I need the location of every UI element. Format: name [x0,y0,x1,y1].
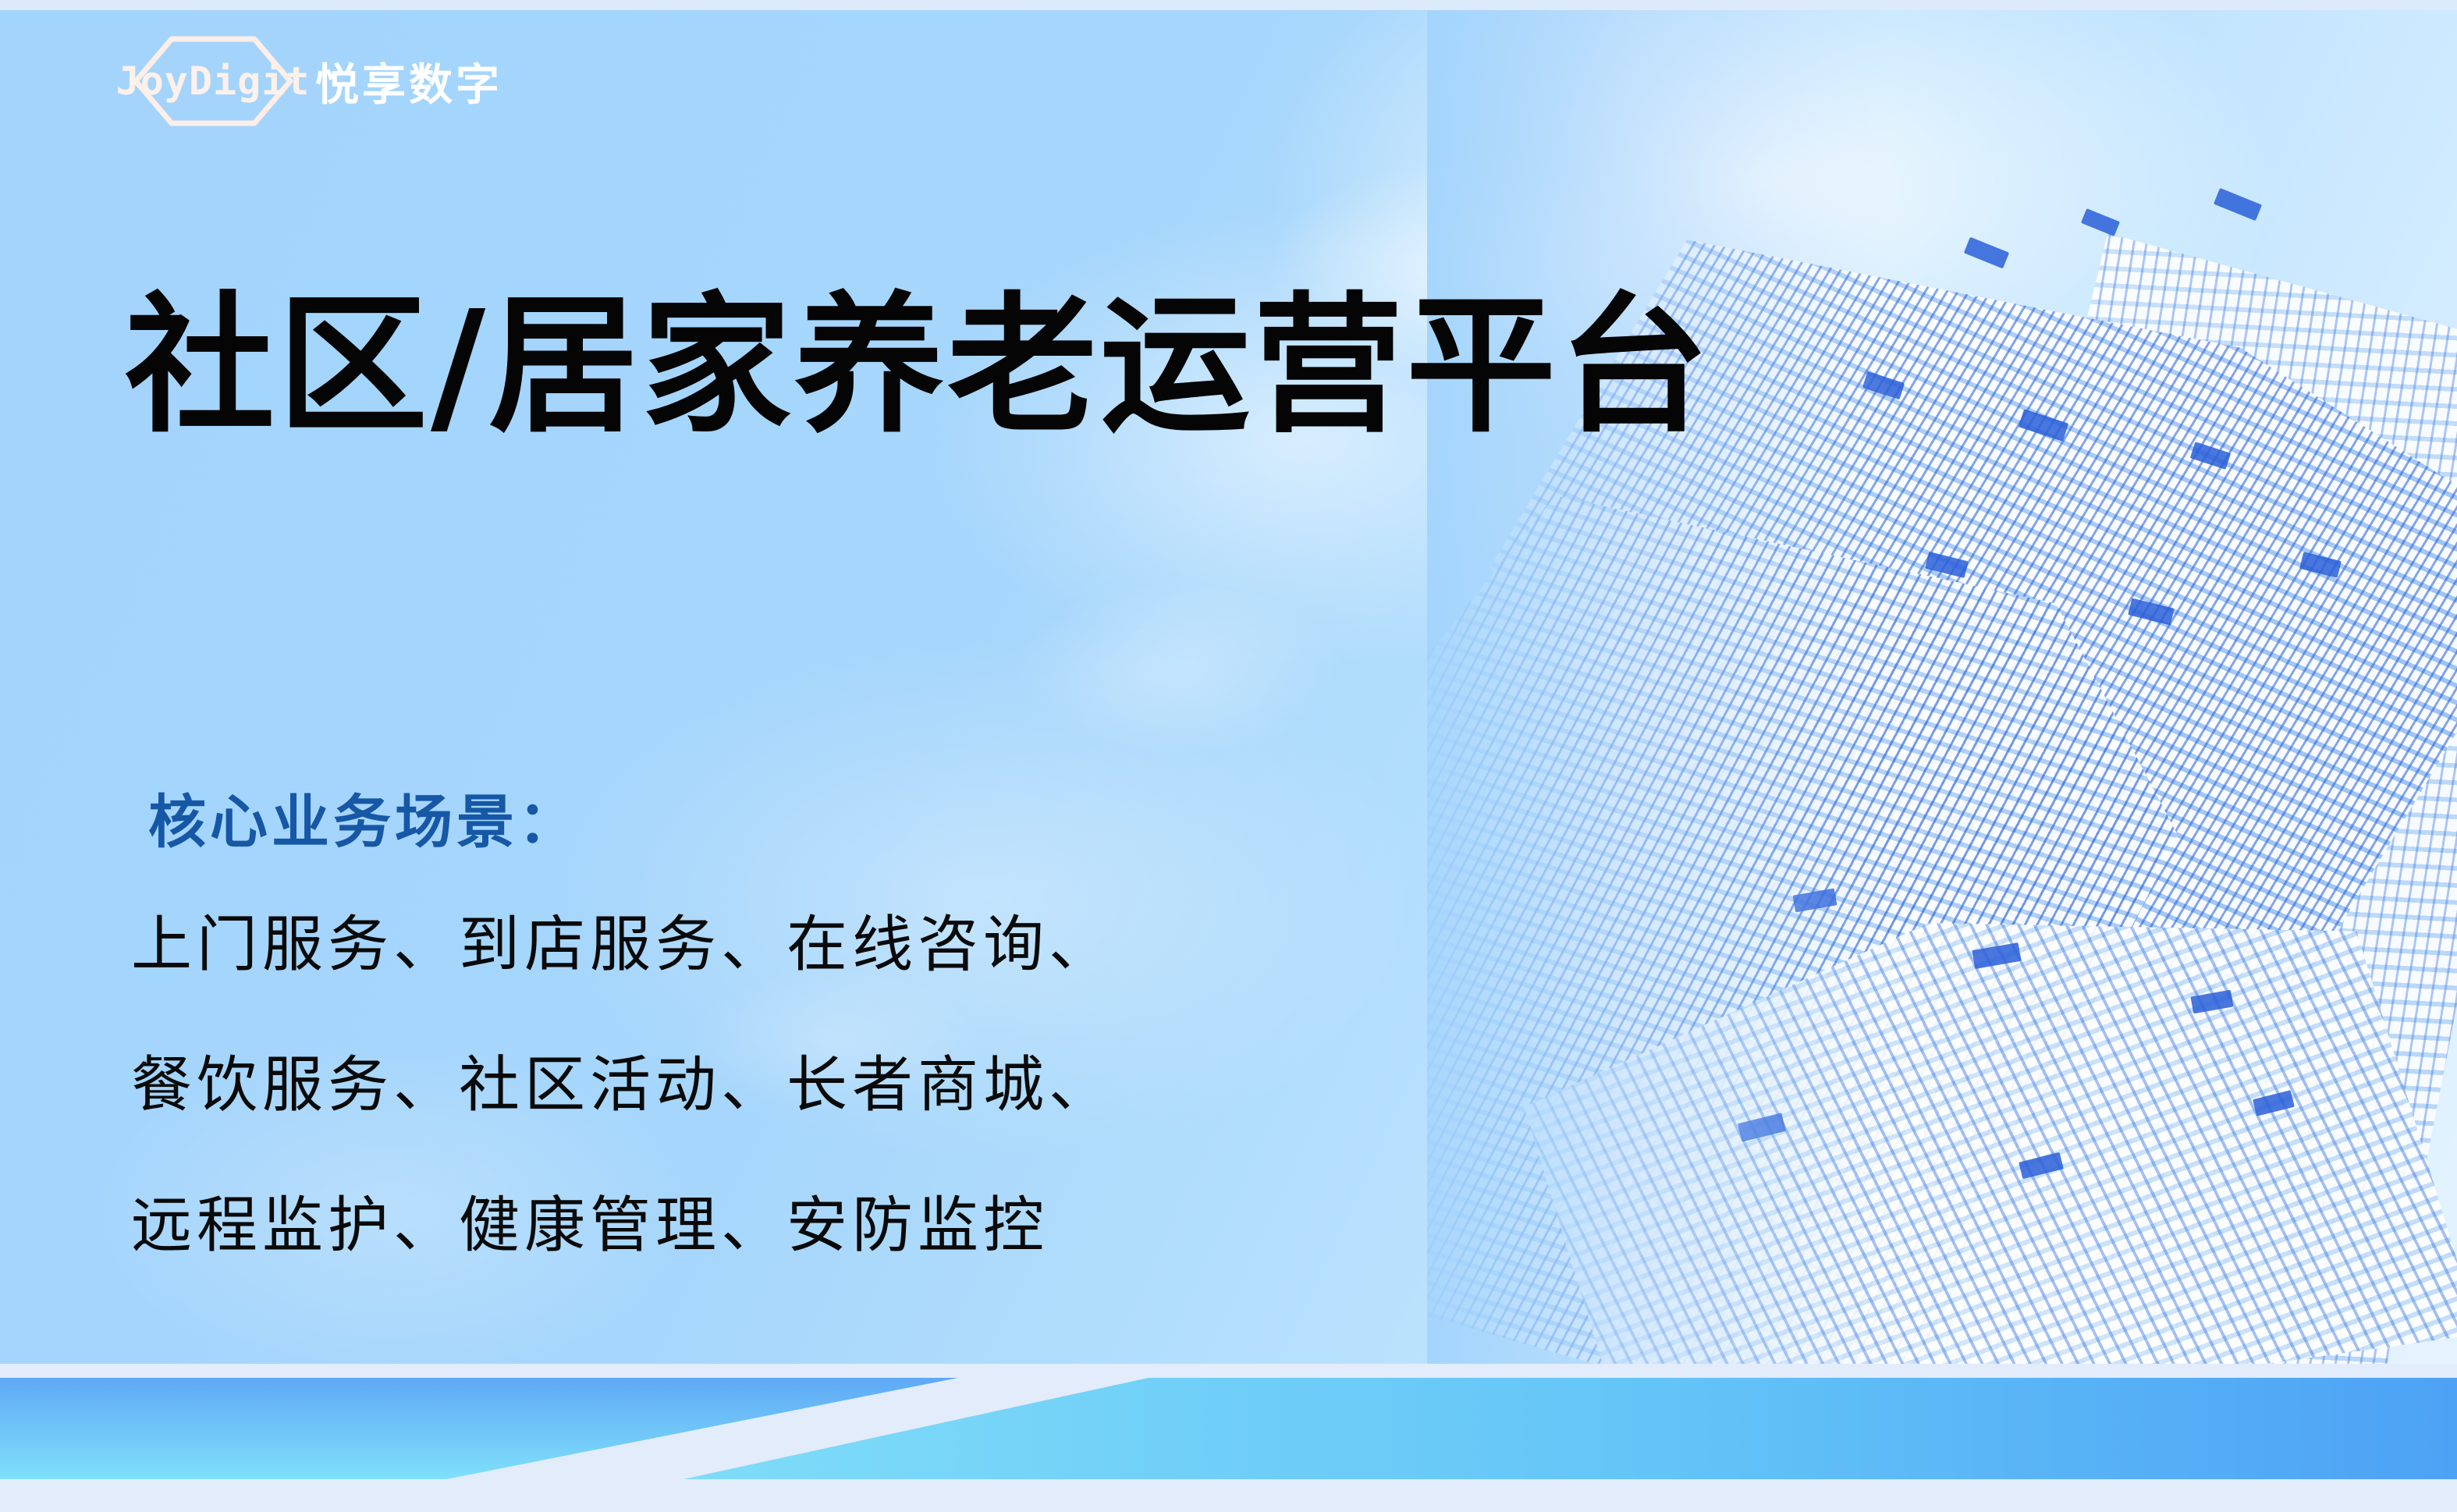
scenario-line: 远程监护、健康管理、安防监控 [131,1195,1114,1256]
scenario-line: 上门服务、到店服务、在线咨询、 [131,914,1114,975]
page-title: 社区/居家养老运营平台 [125,287,1712,446]
scenario-line: 餐饮服务、社区活动、长者商城、 [131,1055,1114,1116]
hexagon-icon: JoyDigit [131,34,295,128]
brand-mark-text: JoyDigit [116,62,311,101]
section-heading: 核心业务场景： [148,776,580,859]
slide-root: JoyDigit 悦享数字 社区/居家养老运营平台 核心业务场景： 上门服务、到… [0,0,2457,1512]
top-accent-strip [0,0,2457,10]
brand-logo: JoyDigit 悦享数字 [131,34,502,128]
footer-band [0,1364,2457,1512]
footer-decoration [0,1364,2457,1512]
brand-name-cn: 悦享数字 [315,50,502,113]
scenario-list: 上门服务、到店服务、在线咨询、 餐饮服务、社区活动、长者商城、 远程监护、健康管… [131,914,1114,1256]
